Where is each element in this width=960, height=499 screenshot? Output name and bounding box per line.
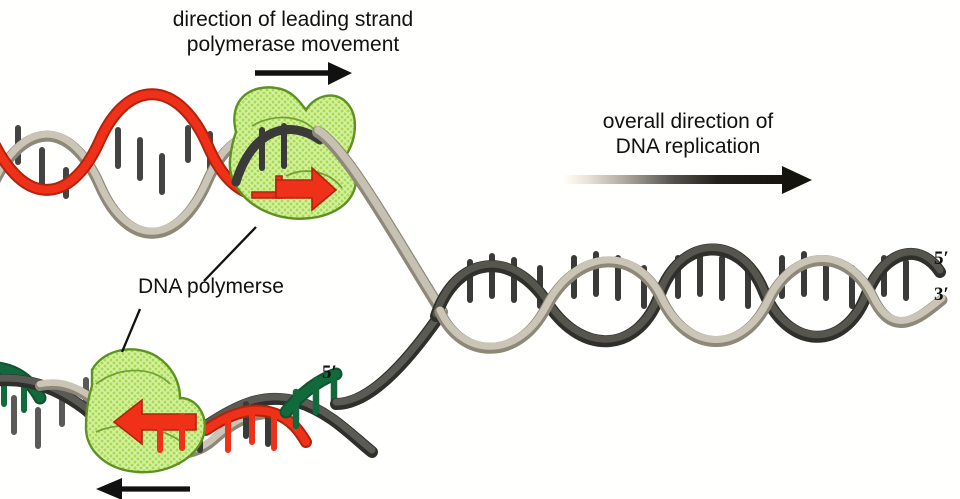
label-overall-line1: overall direction of [543, 110, 833, 135]
label-3-prime-right: 3′ [934, 284, 949, 306]
black-arrow-left [96, 478, 190, 499]
lagging-strand-duplex [0, 316, 438, 462]
black-arrow-right [255, 62, 352, 85]
dna-replication-diagram: direction of leading strand polymerase m… [0, 0, 960, 499]
label-leading-strand-line2: polymerase movement [148, 33, 438, 58]
gradient-arrow-right [565, 166, 812, 194]
label-5-prime-lower: 5′ [322, 362, 337, 384]
label-5-prime-right: 5′ [934, 248, 949, 270]
label-overall-direction: overall direction of DNA replication [543, 110, 833, 160]
label-overall-line2: DNA replication [543, 135, 833, 160]
diagram-artwork [0, 0, 960, 499]
dna-polymerase-lagging [86, 349, 205, 472]
parental-dna-duplex [436, 247, 942, 348]
label-dna-polymerase: DNA polymerse [138, 275, 284, 300]
label-leading-strand-line1: direction of leading strand [148, 8, 438, 33]
label-leading-strand-direction: direction of leading strand polymerase m… [148, 8, 438, 58]
